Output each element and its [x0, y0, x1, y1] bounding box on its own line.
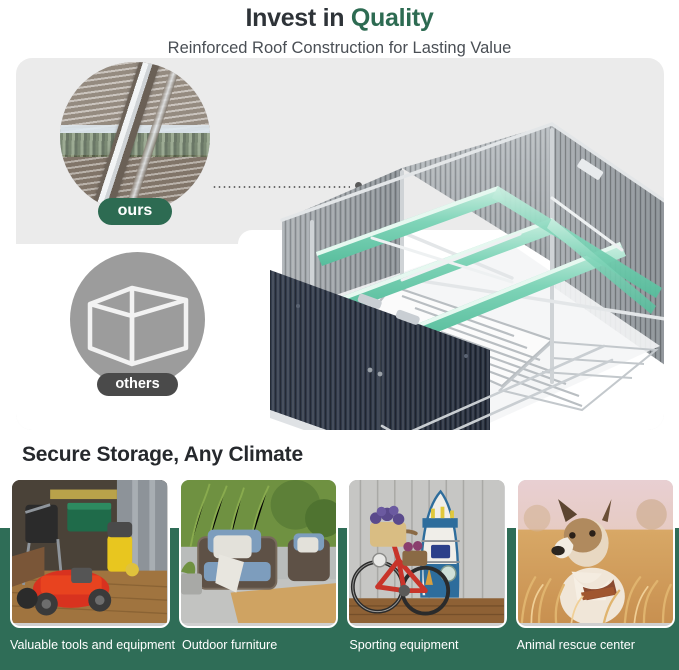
- comparison-others: others: [70, 252, 205, 396]
- card-captions: Valuable tools and equipment Outdoor fur…: [10, 638, 675, 653]
- use-case-cards: [10, 478, 675, 633]
- page-title-accent: Quality: [351, 4, 434, 32]
- caption-outdoor-furniture: Outdoor furniture: [182, 638, 340, 653]
- hero-panel: ours others: [16, 58, 664, 430]
- ours-roof-photo-art: [60, 62, 210, 212]
- card-animal-rescue[interactable]: [516, 478, 676, 628]
- shed-svg: [252, 110, 664, 430]
- page-title: Invest in Quality: [0, 4, 679, 34]
- ours-badge: ours: [98, 198, 173, 225]
- marketing-infographic: Invest in Quality Reinforced Roof Constr…: [0, 0, 679, 670]
- page-title-plain: Invest in: [245, 4, 350, 32]
- caption-sporting-equipment: Sporting equipment: [349, 638, 507, 653]
- section-title-secure-storage: Secure Storage, Any Climate: [22, 443, 303, 467]
- caption-valuable-tools: Valuable tools and equipment: [10, 638, 173, 653]
- header: Invest in Quality Reinforced Roof Constr…: [0, 0, 679, 58]
- comparison-ours: ours: [60, 62, 210, 225]
- dog-image: [518, 480, 673, 623]
- others-illustration: [70, 252, 205, 387]
- card-outdoor-furniture[interactable]: [179, 478, 339, 628]
- page-subtitle: Reinforced Roof Construction for Lasting…: [0, 39, 679, 59]
- card-valuable-tools[interactable]: [10, 478, 170, 628]
- caption-animal-rescue: Animal rescue center: [517, 638, 675, 653]
- sporting-image: [349, 480, 504, 623]
- others-badge: others: [97, 373, 177, 396]
- ours-photo: [60, 62, 210, 212]
- product-illustration: [252, 110, 664, 430]
- tools-image: [12, 480, 167, 623]
- card-sporting-equipment[interactable]: [347, 478, 507, 628]
- wireframe-box-icon: [70, 252, 205, 387]
- furniture-image: [181, 480, 336, 623]
